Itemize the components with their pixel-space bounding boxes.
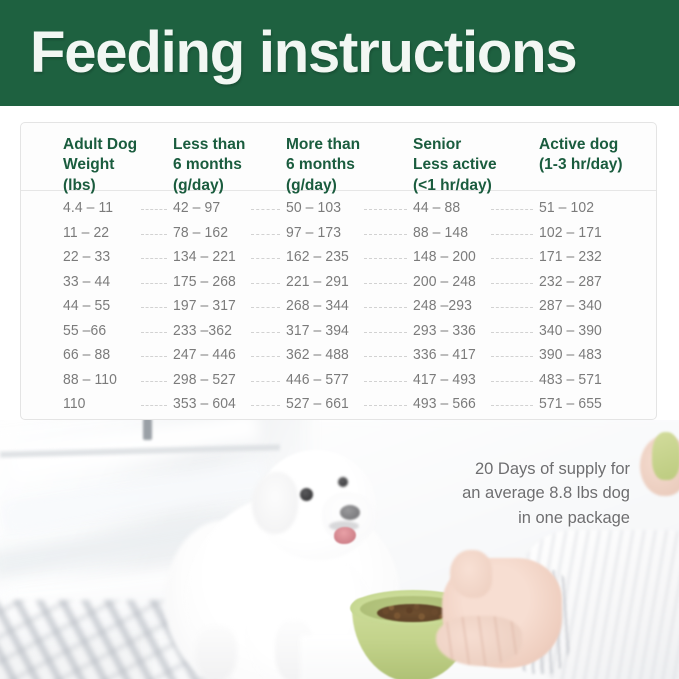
leader-dots xyxy=(251,209,280,210)
cell-r3-c0: 33 – 44 xyxy=(63,273,110,290)
table-row: 66 – 88247 – 446362 – 488336 – 417390 – … xyxy=(21,344,656,369)
leader-dots xyxy=(141,234,167,235)
leader-dots xyxy=(491,332,533,333)
column-header-0: Adult Dog Weight (lbs) xyxy=(63,135,183,196)
feeding-table: Adult Dog Weight (lbs)Less than 6 months… xyxy=(20,122,657,420)
leader-dots xyxy=(141,332,167,333)
cell-r7-c3: 417 – 493 xyxy=(413,371,476,388)
leader-dots xyxy=(491,307,533,308)
cell-r5-c3: 293 – 336 xyxy=(413,322,476,339)
table-row: 11 – 2278 – 16297 – 17388 – 148102 – 171 xyxy=(21,222,656,247)
leader-dots xyxy=(141,381,167,382)
leader-dots xyxy=(364,356,407,357)
leader-dots xyxy=(141,209,167,210)
leader-dots xyxy=(251,307,280,308)
cell-r3-c1: 175 – 268 xyxy=(173,273,236,290)
leader-dots xyxy=(251,405,280,406)
dog-eye xyxy=(338,477,348,487)
leader-dots xyxy=(141,405,167,406)
table-row: 88 – 110298 – 527446 – 577417 – 493483 –… xyxy=(21,369,656,394)
cell-r5-c2: 317 – 394 xyxy=(286,322,349,339)
window-latch xyxy=(143,420,152,440)
cell-r6-c3: 336 – 417 xyxy=(413,346,476,363)
column-header-1: Less than 6 months (g/day) xyxy=(173,135,283,196)
cell-r3-c4: 232 – 287 xyxy=(539,273,602,290)
cell-r4-c1: 197 – 317 xyxy=(173,297,236,314)
cell-r1-c3: 88 – 148 xyxy=(413,224,468,241)
table-row: 44 – 55197 – 317268 – 344248 –293287 – 3… xyxy=(21,295,656,320)
cell-r5-c0: 55 –66 xyxy=(63,322,106,339)
table-row: 22 – 33134 – 221162 – 235148 – 200171 – … xyxy=(21,246,656,271)
cell-r0-c3: 44 – 88 xyxy=(413,199,460,216)
cell-r0-c4: 51 – 102 xyxy=(539,199,594,216)
cell-r3-c2: 221 – 291 xyxy=(286,273,349,290)
leader-dots xyxy=(251,258,280,259)
measuring-scoop xyxy=(652,432,679,480)
cell-r7-c0: 88 – 110 xyxy=(63,371,117,388)
cell-r0-c0: 4.4 – 11 xyxy=(63,199,113,216)
cell-r2-c3: 148 – 200 xyxy=(413,248,476,265)
cell-r4-c0: 44 – 55 xyxy=(63,297,110,314)
dog-back-leg xyxy=(195,625,237,679)
person-fingers xyxy=(436,616,522,666)
cell-r0-c2: 50 – 103 xyxy=(286,199,341,216)
cell-r8-c0: 110 xyxy=(63,395,86,412)
leader-dots xyxy=(364,307,407,308)
kibble-pile xyxy=(377,604,449,622)
table-header-row: Adult Dog Weight (lbs)Less than 6 months… xyxy=(21,123,656,191)
cell-r8-c1: 353 – 604 xyxy=(173,395,236,412)
column-header-4: Active dog (1-3 hr/day) xyxy=(539,135,657,176)
leader-dots xyxy=(251,356,280,357)
cell-r5-c1: 233 –362 xyxy=(173,322,232,339)
leader-dots xyxy=(141,258,167,259)
leader-dots xyxy=(364,381,407,382)
leader-dots xyxy=(364,234,407,235)
cell-r2-c0: 22 – 33 xyxy=(63,248,110,265)
leader-dots xyxy=(491,209,533,210)
column-header-2: More than 6 months (g/day) xyxy=(286,135,396,196)
cell-r4-c4: 287 – 340 xyxy=(539,297,602,314)
cell-r1-c2: 97 – 173 xyxy=(286,224,341,241)
cell-r4-c2: 268 – 344 xyxy=(286,297,349,314)
table-row: 33 – 44175 – 268221 – 291200 – 248232 – … xyxy=(21,271,656,296)
leader-dots xyxy=(364,405,407,406)
page-title: Feeding instructions xyxy=(30,24,576,82)
cell-r2-c4: 171 – 232 xyxy=(539,248,602,265)
table-row: 4.4 – 1142 – 9750 – 10344 – 8851 – 102 xyxy=(21,197,656,222)
cell-r6-c1: 247 – 446 xyxy=(173,346,236,363)
leader-dots xyxy=(141,356,167,357)
cell-r1-c0: 11 – 22 xyxy=(63,224,109,241)
person-thumb xyxy=(450,550,492,598)
table-body: 4.4 – 1142 – 9750 – 10344 – 8851 – 10211… xyxy=(21,191,656,418)
cell-r2-c2: 162 – 235 xyxy=(286,248,349,265)
cell-r3-c3: 200 – 248 xyxy=(413,273,476,290)
cell-r7-c2: 446 – 577 xyxy=(286,371,349,388)
cell-r1-c1: 78 – 162 xyxy=(173,224,228,241)
cell-r6-c0: 66 – 88 xyxy=(63,346,110,363)
leader-dots xyxy=(251,332,280,333)
cell-r2-c1: 134 – 221 xyxy=(173,248,236,265)
cell-r4-c3: 248 –293 xyxy=(413,297,472,314)
cell-r6-c4: 390 – 483 xyxy=(539,346,602,363)
leader-dots xyxy=(491,283,533,284)
leader-dots xyxy=(141,283,167,284)
table-row: 55 –66233 –362317 – 394293 – 336340 – 39… xyxy=(21,320,656,345)
cell-r8-c2: 527 – 661 xyxy=(286,395,349,412)
leader-dots xyxy=(364,283,407,284)
cell-r7-c1: 298 – 527 xyxy=(173,371,236,388)
dog-nose xyxy=(340,505,360,520)
cell-r8-c4: 571 – 655 xyxy=(539,395,602,412)
leader-dots xyxy=(491,405,533,406)
leader-dots xyxy=(491,234,533,235)
column-header-3: Senior Less active (<1 hr/day) xyxy=(413,135,533,196)
dog-ear xyxy=(252,472,298,534)
feeding-instructions-page: Feeding instructions Adult Dog Weight (l… xyxy=(0,0,679,679)
leader-dots xyxy=(491,356,533,357)
cell-r0-c1: 42 – 97 xyxy=(173,199,220,216)
dog-eye xyxy=(300,488,313,501)
leader-dots xyxy=(251,381,280,382)
leader-dots xyxy=(251,234,280,235)
cell-r1-c4: 102 – 171 xyxy=(539,224,602,241)
leader-dots xyxy=(491,381,533,382)
cell-r8-c3: 493 – 566 xyxy=(413,395,476,412)
header-banner: Feeding instructions xyxy=(0,0,679,106)
leader-dots xyxy=(364,258,407,259)
cell-r7-c4: 483 – 571 xyxy=(539,371,602,388)
supply-note: 20 Days of supply for an average 8.8 lbs… xyxy=(395,457,630,530)
leader-dots xyxy=(141,307,167,308)
leader-dots xyxy=(251,283,280,284)
table-row: 110353 – 604527 – 661493 – 566571 – 655 xyxy=(21,393,656,418)
cell-r5-c4: 340 – 390 xyxy=(539,322,602,339)
leader-dots xyxy=(364,209,407,210)
leader-dots xyxy=(491,258,533,259)
cell-r6-c2: 362 – 488 xyxy=(286,346,349,363)
leader-dots xyxy=(364,332,407,333)
